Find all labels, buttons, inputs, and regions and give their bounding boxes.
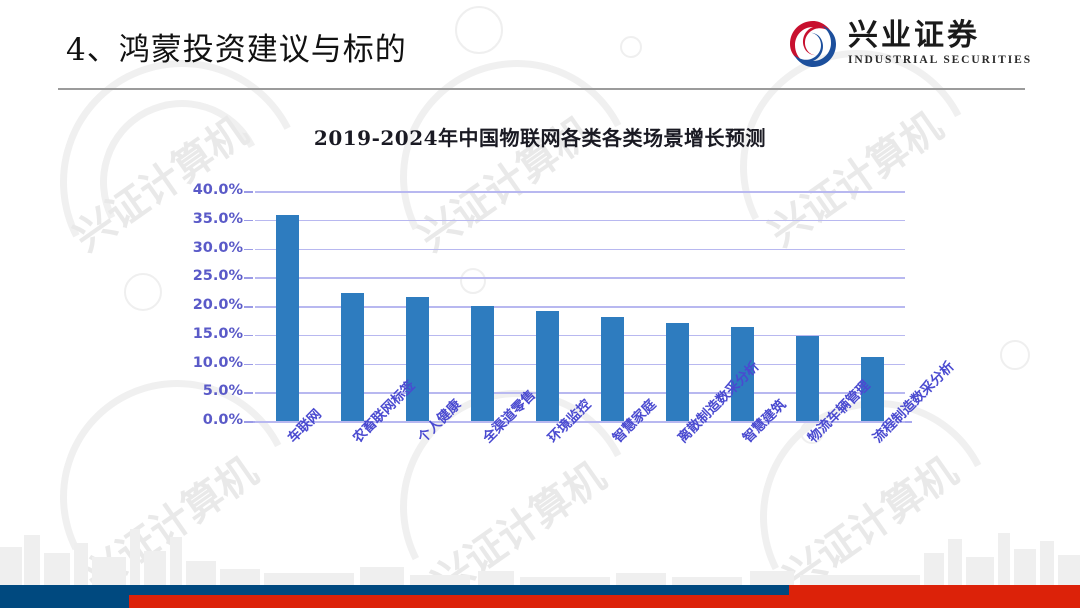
chart-category-labels: 车联网农畜联网标签个人健康全渠道零售环境监控智慧家庭离散制造数采分析智慧建筑物流… [255, 426, 915, 556]
chart-y-tick [244, 220, 253, 222]
slide-canvas: 兴证计算机 兴证计算机 兴证计算机 兴证计算机 兴证计算机 兴证计算机 [0, 0, 1080, 608]
chart-y-tick [244, 421, 253, 423]
chart-plot-area: 40.0%35.0%30.0%25.0%20.0%15.0%10.0%5.0%0… [255, 191, 905, 421]
chart-y-tick-label: 5.0% [153, 383, 243, 399]
logo-swirl-icon [787, 18, 839, 70]
logo-name-cn: 兴业证券 [848, 21, 1032, 51]
chart-y-tick-label: 20.0% [153, 297, 243, 313]
chart-y-tick-label: 10.0% [153, 355, 243, 371]
chart-y-tick [244, 249, 253, 251]
chart-y-tick [244, 335, 253, 337]
footer-bar-red [789, 585, 1080, 595]
chart-bar [601, 317, 624, 421]
chart-bar [341, 293, 364, 421]
chart-y-tick [244, 306, 253, 308]
title-divider [58, 88, 1025, 90]
chart-y-tick-label: 30.0% [153, 240, 243, 256]
chart-container: 2019-2024年中国物联网各类各类场景增长预测 40.0%35.0%30.0… [0, 104, 1080, 564]
watermark-ring [455, 6, 503, 54]
chart-y-tick [244, 392, 253, 394]
chart-title: 2019-2024年中国物联网各类各类场景增长预测 [0, 122, 1080, 151]
footer-bar-blue-lower [0, 595, 129, 608]
chart-bar [471, 306, 494, 421]
chart-y-tick [244, 364, 253, 366]
chart-y-tick-label: 25.0% [153, 268, 243, 284]
page-title: 4、鸿蒙投资建议与标的 [66, 24, 407, 69]
chart-gridline [255, 277, 905, 279]
chart-bar [406, 297, 429, 421]
chart-gridline [255, 191, 905, 193]
chart-bar [536, 311, 559, 421]
logo-text: 兴业证券 INDUSTRIAL SECURITIES [848, 21, 1032, 67]
chart-y-tick-label: 40.0% [153, 182, 243, 198]
chart-bar [666, 323, 689, 421]
chart-y-tick-label: 0.0% [153, 412, 243, 428]
chart-bar [796, 336, 819, 421]
chart-y-tick-label: 15.0% [153, 326, 243, 342]
watermark-ring [620, 36, 642, 58]
chart-y-tick [244, 277, 253, 279]
company-logo: 兴业证券 INDUSTRIAL SECURITIES [787, 18, 1032, 70]
footer-bar-red-lower [129, 595, 1080, 608]
chart-gridline [255, 249, 905, 251]
footer-bar-blue [0, 585, 789, 595]
chart-y-tick [244, 191, 253, 193]
chart-y-tick-label: 35.0% [153, 211, 243, 227]
logo-name-en: INDUSTRIAL SECURITIES [848, 55, 1032, 67]
chart-bar [276, 215, 299, 421]
chart-gridline [255, 220, 905, 222]
